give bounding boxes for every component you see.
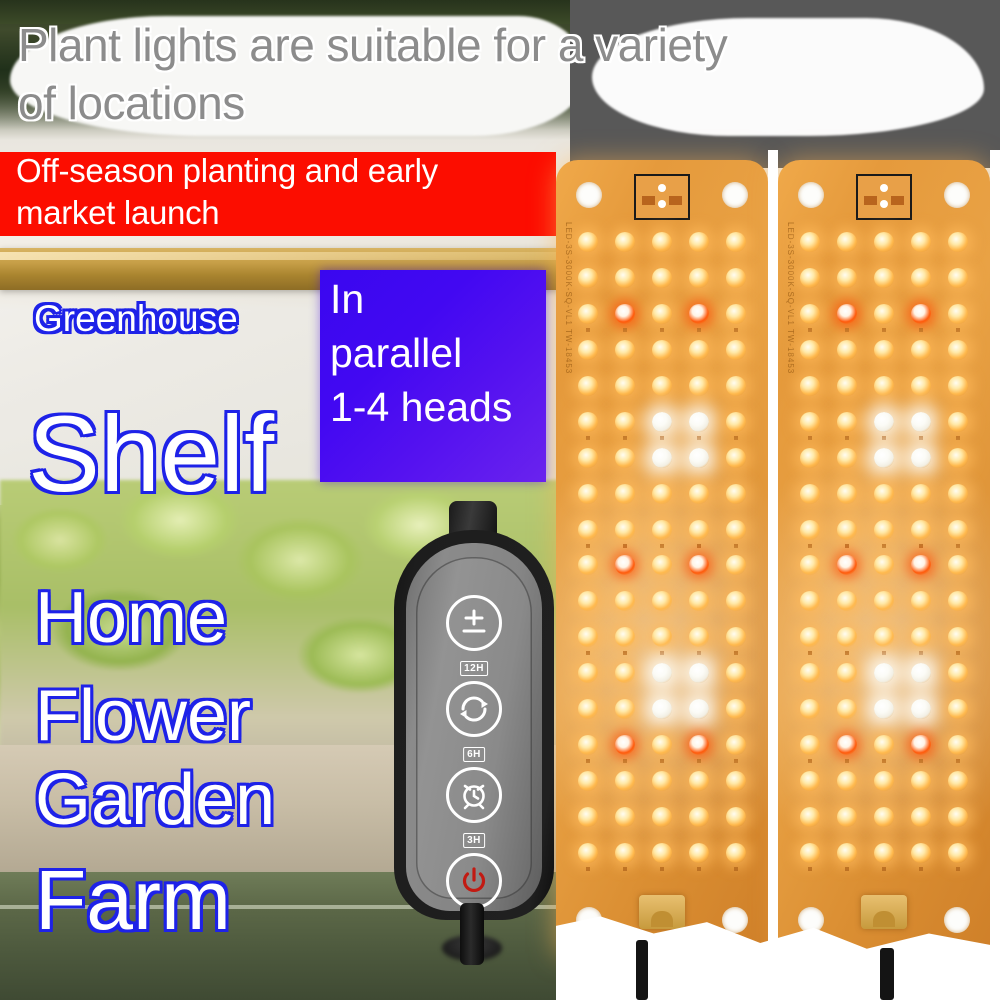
- led-amber: [689, 340, 709, 360]
- pcb-trace-dot: [919, 651, 923, 655]
- pcb-trace-dot: [734, 544, 738, 548]
- led-amber: [837, 412, 857, 432]
- solder-pad: [891, 196, 904, 205]
- pcb-trace-dot: [845, 328, 849, 332]
- led-amber: [800, 412, 820, 432]
- led-amber: [837, 520, 857, 540]
- led-amber: [948, 376, 968, 396]
- pcb-trace-dot: [956, 867, 960, 871]
- solder-pad: [642, 196, 655, 205]
- led-amber: [652, 304, 672, 324]
- pcb-trace-dot: [697, 436, 701, 440]
- pcb-trace-dot: [956, 544, 960, 548]
- led-amber: [615, 771, 635, 791]
- led-amber: [578, 340, 598, 360]
- led-amber: [874, 520, 894, 540]
- pcb-trace-dot: [882, 759, 886, 763]
- led-amber: [837, 771, 857, 791]
- pcb-trace-dot: [697, 867, 701, 871]
- pcb-trace-dot: [808, 867, 812, 871]
- pcb-trace-dot: [586, 544, 590, 548]
- led-red: [837, 304, 857, 324]
- timer-tag-12h: 12H: [460, 661, 488, 676]
- led-amber: [948, 412, 968, 432]
- page-title: Plant lights are suitable for a variety …: [18, 16, 993, 132]
- led-amber: [911, 807, 931, 827]
- power-button[interactable]: [446, 853, 502, 909]
- mount-hole-icon: [722, 182, 748, 208]
- led-amber: [800, 340, 820, 360]
- led-amber: [874, 268, 894, 288]
- led-amber: [726, 340, 746, 360]
- connector-pin: [880, 184, 888, 192]
- led-amber: [874, 376, 894, 396]
- led-amber: [948, 484, 968, 504]
- panel-power-cable: [880, 948, 894, 1000]
- led-amber: [800, 448, 820, 468]
- pcb-trace-dot: [919, 328, 923, 332]
- led-amber: [689, 807, 709, 827]
- label-home: Home: [35, 580, 227, 656]
- led-amber: [652, 232, 672, 252]
- led-amber: [800, 268, 820, 288]
- panel-connector-icon: [856, 174, 912, 220]
- timer-button[interactable]: [446, 767, 502, 823]
- led-amber: [800, 520, 820, 540]
- led-amber: [874, 304, 894, 324]
- pcb-trace-dot: [734, 867, 738, 871]
- connector-pin: [880, 200, 888, 208]
- pcb-trace-dot: [697, 759, 701, 763]
- led-amber: [948, 771, 968, 791]
- led-amber: [615, 412, 635, 432]
- pcb-trace-dot: [623, 759, 627, 763]
- led-amber: [578, 843, 598, 863]
- pcb-trace-dot: [586, 759, 590, 763]
- led-amber: [615, 232, 635, 252]
- pcb-trace-dot: [919, 544, 923, 548]
- led-amber: [726, 807, 746, 827]
- led-amber: [948, 807, 968, 827]
- pcb-trace-dot: [882, 328, 886, 332]
- led-panel-right: LED-3S-3000K-SQ-VL1 TW-18453: [778, 160, 990, 955]
- pcb-trace-dot: [623, 328, 627, 332]
- led-amber: [911, 771, 931, 791]
- led-amber: [578, 376, 598, 396]
- led-amber: [837, 807, 857, 827]
- pcb-trace-dot: [697, 651, 701, 655]
- pcb-trace-dot: [623, 544, 627, 548]
- led-amber: [578, 807, 598, 827]
- mount-hole-icon: [722, 907, 748, 933]
- pcb-trace-dot: [734, 651, 738, 655]
- led-amber: [911, 376, 931, 396]
- pcb-trace-dot: [956, 436, 960, 440]
- led-amber: [874, 484, 894, 504]
- led-amber: [578, 304, 598, 324]
- solder-pad: [669, 196, 682, 205]
- pcb-trace-dot: [845, 544, 849, 548]
- brightness-button[interactable]: [446, 595, 502, 651]
- led-amber: [911, 843, 931, 863]
- led-amber: [578, 232, 598, 252]
- led-amber: [615, 340, 635, 360]
- power-icon: [459, 866, 489, 896]
- led-amber: [689, 376, 709, 396]
- led-amber: [726, 843, 746, 863]
- product-marketing-image: Plant lights are suitable for a variety …: [0, 0, 1000, 1000]
- led-amber: [837, 232, 857, 252]
- led-amber: [578, 412, 598, 432]
- led-amber: [800, 807, 820, 827]
- led-amber: [652, 484, 672, 504]
- pcb-trace-dot: [956, 651, 960, 655]
- led-amber: [800, 484, 820, 504]
- pcb-trace-dot: [586, 436, 590, 440]
- led-amber: [726, 412, 746, 432]
- led-amber: [911, 520, 931, 540]
- led-red: [911, 304, 931, 324]
- panel-gap: [768, 150, 778, 950]
- led-white: [689, 448, 709, 468]
- led-amber: [652, 520, 672, 540]
- label-greenhouse: Greenhouse: [34, 298, 238, 340]
- led-amber: [726, 771, 746, 791]
- led-amber: [837, 484, 857, 504]
- pcb-trace-dot: [697, 328, 701, 332]
- pcb-trace-dot: [697, 544, 701, 548]
- pcb-trace-dot: [808, 544, 812, 548]
- led-amber: [615, 843, 635, 863]
- refresh-cycle-icon: [457, 692, 491, 726]
- led-amber: [726, 232, 746, 252]
- pcb-trace-dot: [586, 328, 590, 332]
- led-amber: [800, 843, 820, 863]
- led-amber: [615, 807, 635, 827]
- led-amber: [911, 484, 931, 504]
- led-amber: [948, 268, 968, 288]
- led-amber: [689, 843, 709, 863]
- pcb-trace-dot: [660, 544, 664, 548]
- label-shelf: Shelf: [28, 400, 274, 508]
- mount-hole-icon: [576, 182, 602, 208]
- pcb-trace-dot: [660, 328, 664, 332]
- pcb-trace-dot: [734, 436, 738, 440]
- led-amber: [874, 232, 894, 252]
- led-amber: [689, 520, 709, 540]
- panel-connector-icon: [634, 174, 690, 220]
- led-amber: [578, 771, 598, 791]
- led-amber: [874, 807, 894, 827]
- pcb-trace-dot: [660, 759, 664, 763]
- shelf-rail-highlight: [0, 252, 560, 260]
- led-amber: [652, 376, 672, 396]
- panel-bottom-connector-icon: [639, 895, 685, 929]
- led-amber: [911, 340, 931, 360]
- led-amber: [652, 340, 672, 360]
- pcb-trace-dot: [808, 651, 812, 655]
- led-amber: [800, 376, 820, 396]
- led-amber: [652, 268, 672, 288]
- pcb-trace-dot: [845, 759, 849, 763]
- solder-pad: [864, 196, 877, 205]
- pcb-trace-dot: [919, 759, 923, 763]
- led-amber: [948, 340, 968, 360]
- connector-pin: [658, 184, 666, 192]
- led-amber: [726, 268, 746, 288]
- parallel-callout-text: In parallel 1-4 heads: [330, 272, 550, 434]
- led-amber: [652, 807, 672, 827]
- pcb-trace-dot: [808, 328, 812, 332]
- pcb-trace-dot: [956, 759, 960, 763]
- led-amber: [948, 448, 968, 468]
- led-amber: [874, 340, 894, 360]
- led-amber: [689, 771, 709, 791]
- pcb-trace-dot: [734, 759, 738, 763]
- led-white: [652, 448, 672, 468]
- timer-tag-6h: 6H: [463, 747, 485, 762]
- timer-tag-3h: 3H: [463, 833, 485, 848]
- panel-power-cable: [636, 940, 648, 1000]
- connector-pin: [658, 200, 666, 208]
- led-amber: [615, 376, 635, 396]
- pcb-trace-dot: [882, 544, 886, 548]
- led-amber: [800, 232, 820, 252]
- led-white: [874, 448, 894, 468]
- mount-hole-icon: [944, 907, 970, 933]
- pcb-trace-dot: [845, 651, 849, 655]
- led-amber: [578, 484, 598, 504]
- led-amber: [615, 268, 635, 288]
- pcb-trace-dot: [919, 436, 923, 440]
- led-amber: [689, 268, 709, 288]
- pcb-trace-dot: [919, 867, 923, 871]
- led-amber: [837, 268, 857, 288]
- pcb-trace-dot: [808, 436, 812, 440]
- led-amber: [726, 520, 746, 540]
- mount-hole-icon: [944, 182, 970, 208]
- pcb-trace-dot: [586, 651, 590, 655]
- led-white: [874, 412, 894, 432]
- led-panel-left: LED-3S-3000K-SQ-VL1 TW-18453: [556, 160, 768, 955]
- pcb-silkscreen-text: LED-3S-3000K-SQ-VL1 TW-18453: [786, 222, 795, 374]
- pcb-trace-dot: [734, 328, 738, 332]
- led-controller: 12H 6H: [380, 495, 570, 965]
- pcb-trace-dot: [623, 436, 627, 440]
- led-white: [911, 448, 931, 468]
- panel-bottom-connector-icon: [861, 895, 907, 929]
- led-amber: [911, 268, 931, 288]
- led-amber: [615, 484, 635, 504]
- plus-minus-icon: [457, 606, 491, 640]
- led-amber: [948, 232, 968, 252]
- led-amber: [615, 448, 635, 468]
- led-amber: [689, 232, 709, 252]
- led-amber: [837, 843, 857, 863]
- pcb-trace-dot: [660, 436, 664, 440]
- mount-hole-icon: [798, 182, 824, 208]
- led-amber: [726, 304, 746, 324]
- led-amber: [837, 376, 857, 396]
- led-amber: [800, 304, 820, 324]
- led-white: [911, 412, 931, 432]
- pcb-trace-dot: [882, 651, 886, 655]
- led-amber: [578, 268, 598, 288]
- led-red: [689, 304, 709, 324]
- pcb-trace-dot: [845, 436, 849, 440]
- led-amber: [652, 771, 672, 791]
- led-amber: [948, 843, 968, 863]
- led-amber: [837, 448, 857, 468]
- pcb-trace-dot: [623, 651, 627, 655]
- controller-output-cable: [460, 903, 484, 965]
- pcb-trace-dot: [956, 328, 960, 332]
- led-amber: [911, 232, 931, 252]
- led-amber: [800, 771, 820, 791]
- pcb-trace-dot: [660, 651, 664, 655]
- label-flower: Flower: [35, 678, 251, 754]
- right-white-margin: [990, 150, 1000, 960]
- led-white: [689, 412, 709, 432]
- cycle-button[interactable]: [446, 681, 502, 737]
- label-garden: Garden: [35, 762, 275, 838]
- label-farm: Farm: [35, 856, 231, 944]
- led-amber: [578, 520, 598, 540]
- pcb-trace-dot: [586, 867, 590, 871]
- led-amber: [837, 340, 857, 360]
- led-amber: [615, 520, 635, 540]
- led-amber: [578, 448, 598, 468]
- led-amber: [726, 484, 746, 504]
- controller-button-area: 12H 6H: [416, 557, 532, 899]
- pcb-trace-dot: [882, 436, 886, 440]
- led-amber: [652, 843, 672, 863]
- led-amber: [726, 376, 746, 396]
- led-amber: [948, 304, 968, 324]
- pcb-trace-dot: [882, 867, 886, 871]
- pcb-trace-dot: [808, 759, 812, 763]
- pcb-trace-dot: [845, 867, 849, 871]
- led-red: [615, 304, 635, 324]
- led-amber: [726, 448, 746, 468]
- alarm-clock-icon: [457, 778, 491, 812]
- pcb-trace-dot: [660, 867, 664, 871]
- led-amber: [874, 771, 894, 791]
- led-amber: [689, 484, 709, 504]
- pcb-trace-dot: [623, 867, 627, 871]
- promo-banner-text: Off-season planting and early market lau…: [16, 150, 556, 234]
- led-amber: [948, 520, 968, 540]
- led-amber: [874, 843, 894, 863]
- pcb-silkscreen-text: LED-3S-3000K-SQ-VL1 TW-18453: [564, 222, 573, 374]
- led-white: [652, 412, 672, 432]
